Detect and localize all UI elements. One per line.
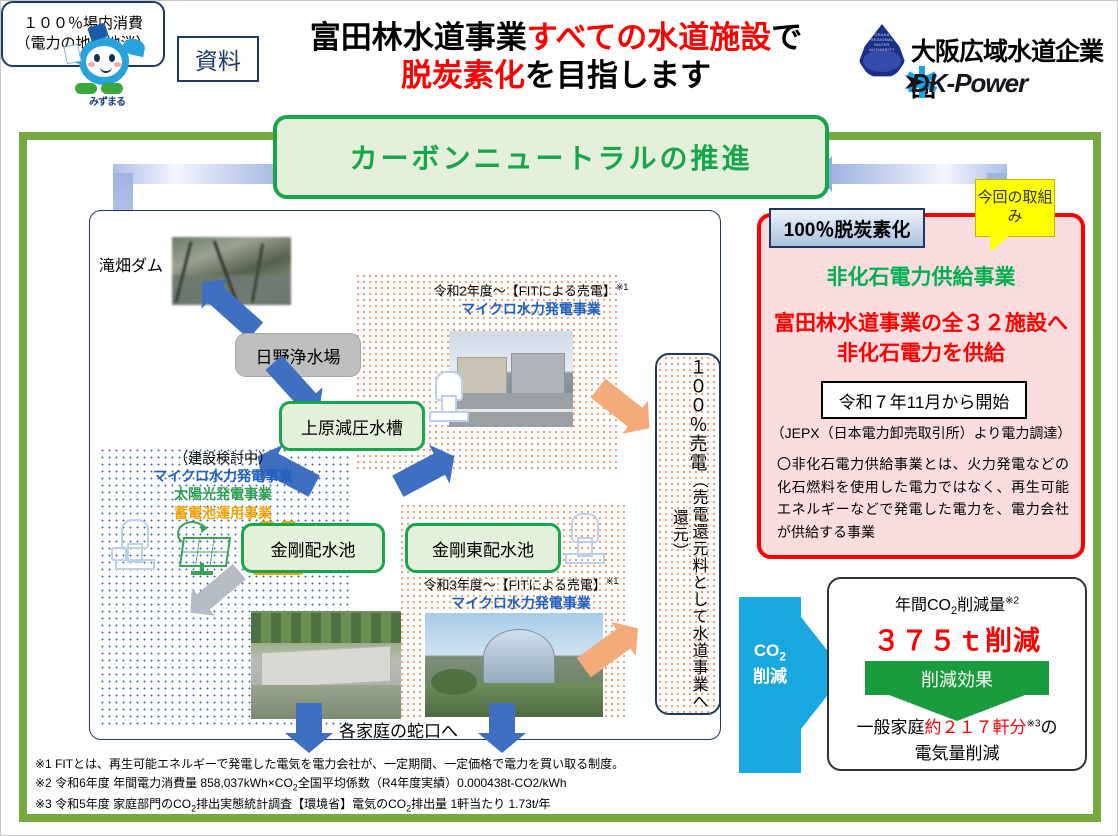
title-text-decarbon: 脱炭素化 [401,58,525,93]
household-count: 約２１７軒分 [925,718,1027,737]
tap-arrow-left [296,703,322,733]
result-header-footnote-ref: ※2 [1005,596,1019,607]
electricity-reduction-label: 電気量削減 [829,739,1085,764]
kongo-east-reservoir-photo [425,613,603,717]
title-text-b: で [771,20,802,55]
footnotes: ※1 FITとは、再生可能エネルギーで発電した電気を電力会社が、一定期間、一定価… [35,755,735,815]
co2-result-box: 年間CO2削減量※2 ３７５ｔ削減 削減効果 一般家庭約２１７軒分※3の 電気量… [827,577,1087,771]
reduction-effect-label: 削減効果 [865,666,1049,692]
current-initiative-callout-label: 今回の取組み [976,189,1054,227]
fit-caption-lower-name: マイクロ水力発電事業 [397,594,645,613]
fit2-footnote-ref: ※1 [606,576,619,586]
carbon-neutral-banner-label: カーボンニュートラルの推進 [349,137,752,177]
household-equivalent-line: 一般家庭約２１７軒分※3の [829,713,1085,738]
footnote-3-a: ※3 令和5年度 家庭部門のCO [35,797,191,811]
carbon-neutral-banner: カーボンニュートラルの推進 [273,115,829,199]
micro-hydro-turbine-icon-upper [425,371,469,429]
infographic-page: みずまる 資料 富田林水道事業すべての水道施設で 脱炭素化を目指します OSAK… [0,0,1118,836]
page-title-line-1: 富田林水道事業すべての水道施設で [291,19,821,57]
planned-project-solar: 太陽光発電事業 [109,485,337,503]
household-footnote-ref: ※3 [1027,718,1041,729]
reduction-effect-arrow: 削減効果 [865,661,1049,695]
title-text-a: 富田林水道事業 [310,20,527,55]
electricity-sale-sub: （売電還元料として水道事業へ還元） [670,472,707,710]
fit-caption-lower-head: 令和3年度～【FITによる売電】※1 [397,575,645,594]
footnote-2: ※2 令和6年度 年間電力消費量 858,037kWh×CO2全国平均係数（R4… [35,774,735,795]
co2-reduction-arrow: CO2 削減 [739,597,801,773]
non-fossil-power-box: 非化石電力供給事業 富田林水道事業の全３２施設へ 非化石電力を供給 令和７年11… [757,213,1085,559]
household-tap-label: 各家庭の蛇口へ [339,717,458,742]
mascot-name-label: みずまる [89,93,125,108]
annual-co2-reduction-header: 年間CO2削減量※2 [829,591,1085,617]
mascot-cheek-left [88,62,95,67]
electricity-sale-main: １００％売電 [688,358,708,472]
hino-purification-plant-box: 日野浄水場 [235,333,361,377]
mascot-eye-right [109,54,115,62]
tap-arrow-right [489,703,515,733]
fit-caption-upper-head: 令和2年度～【FITによる売電】※1 [407,281,655,300]
page-header: みずまる 資料 富田林水道事業すべての水道施設で 脱炭素化を目指します OSAK… [1,1,1118,109]
document-type-badge: 資料 [177,36,259,82]
decarbonization-badge: 100％脱炭素化 [769,208,925,248]
footnote-1: ※1 FITとは、再生可能エネルギーで発電した電気を電力会社が、一定期間、一定価… [35,755,735,774]
footnote-3-b: 排出実態統計調査【環境省】電気のCO [196,797,406,811]
footnote-2-b: 全国平均係数（R4年度実績）0.000438t-CO2/kWh [298,776,567,790]
fit1-footnote-ref: ※1 [616,282,629,292]
planned-projects-title: （建設検討中） [109,449,337,467]
water-drop-logo-text: OSAKA REGIONAL WATER AUTHORITY [867,32,897,52]
fit-caption-upper: 令和2年度～【FITによる売電】※1 マイクロ水力発電事業 [407,281,655,319]
footnote-3: ※3 令和5年度 家庭部門のCO2排出実態統計調査【環境省】電気のCO2排出量 … [35,795,735,816]
co2-arrow-text-b: 削減 [753,667,787,686]
non-fossil-main-text: 富田林水道事業の全３２施設へ 非化石電力を供給 [761,309,1081,370]
title-text-c: を目指します [525,58,711,93]
micro-hydro-turbine-icon-lower [561,513,605,571]
page-title-line-2: 脱炭素化を目指します [291,57,821,95]
start-date-box: 令和７年11月から開始 [821,381,1027,419]
kongo-reservoir-box: 金剛配水池 [241,523,385,573]
planned-project-micro-hydro: マイクロ水力発電事業 [109,467,337,485]
fit-caption-lower: 令和3年度～【FITによる売電】※1 マイクロ水力発電事業 [397,575,645,613]
corporate-logo: OSAKA REGIONAL WATER AUTHORITY 大阪広域水道企業団… [853,21,1103,105]
kongo-east-reservoir-box: 金剛東配水池 [405,523,561,573]
result-header-a: 年間CO [895,597,951,614]
non-fossil-main-line-2: 非化石電力を供給 [761,339,1081,369]
mascot-paper [63,44,81,65]
current-initiative-callout: 今回の取組み [975,179,1055,237]
cycle-arrow-left [113,164,289,184]
kongo-reservoir-photo [251,611,401,719]
non-fossil-description: 〇非化石電力供給事業とは、火力発電などの化石燃料を使用した電力ではなく、再生可能… [777,453,1069,544]
water-drop-icon: OSAKA REGIONAL WATER AUTHORITY [859,24,905,78]
result-header-b: 削減量 [957,597,1005,614]
co2-reduction-arrow-label: CO2 削減 [739,639,801,689]
fit-caption-upper-name: マイクロ水力発電事業 [407,300,655,319]
electricity-sale-box: １００％売電（売電還元料として水道事業へ還元） [655,353,721,715]
callout-tail [990,235,1010,252]
electricity-sale-text: １００％売電（売電還元料として水道事業へ還元） [668,355,707,713]
fit2-head-text: 令和3年度～【FITによる売電】 [424,577,606,592]
co2-arrow-subscript: 2 [779,649,786,663]
household-text-b: の [1040,718,1057,737]
non-fossil-headline: 非化石電力供給事業 [761,261,1081,291]
footnote-2-a: ※2 令和6年度 年間電力消費量 858,037kWh×CO [35,776,293,790]
title-text-highlight: すべての水道施設 [527,20,772,55]
co2-arrow-text-a: CO [754,641,780,660]
uehara-pressure-tank-box: 上原減圧水槽 [279,401,425,451]
turbine-icon [111,519,155,577]
water-swirl-icon [863,50,901,72]
dam-label: 滝畑ダム [99,252,163,276]
mascot-mizumaru-logo: みずまる [63,15,155,107]
non-fossil-main-line-1: 富田林水道事業の全３２施設へ [761,309,1081,339]
jepx-procurement-note: （JEPX（日本電力卸売取引所）より電力調達） [761,423,1081,443]
mascot-eye-left [94,54,100,62]
planned-projects-text: （建設検討中） マイクロ水力発電事業 太陽光発電事業 蓄電池運用事業 [109,449,337,522]
fit1-head-text: 令和2年度～【FITによる売電】 [434,283,616,298]
mascot-cheek-right [114,62,121,67]
page-title: 富田林水道事業すべての水道施設で 脱炭素化を目指します [291,19,821,95]
dk-power-brand: DK-Power [911,68,1027,99]
solar-panel-icon [173,519,231,577]
co2-reduction-value: ３７５ｔ削減 [829,619,1085,658]
footnote-3-c: 排出量 1軒当たり 1.73t/年 [411,797,550,811]
household-text-a: 一般家庭 [857,718,925,737]
